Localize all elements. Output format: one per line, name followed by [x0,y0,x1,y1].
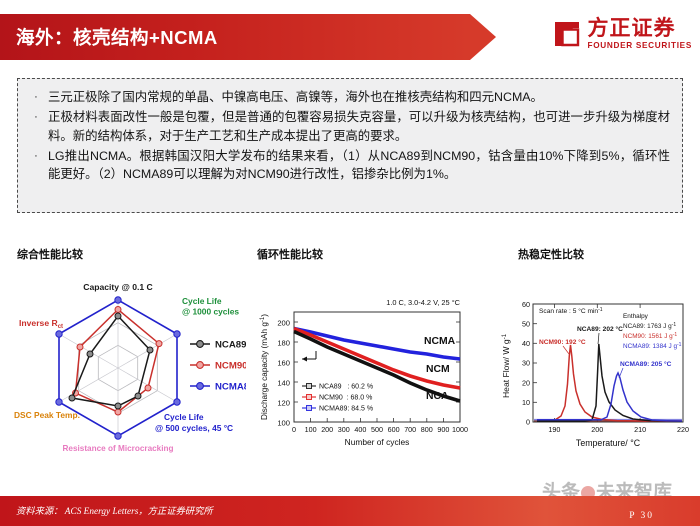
svg-text:200: 200 [277,319,290,328]
bullet-text: 三元正极除了国内常规的单晶、中镍高电压、高镍等，海外也在推核壳结构和四元NCMA… [48,88,670,107]
dsc-enthalpy-title: Enthalpy [623,313,649,320]
svg-text:100: 100 [277,419,290,428]
section-heading-radar: 综合性能比较 [17,246,83,262]
svg-text:100: 100 [305,425,317,434]
dsc-thermal-chart: 0 10 20 30 40 50 60 [497,274,693,456]
list-item: · LG推出NCMA。根据韩国汉阳大学发布的结果来看，（1）从NCA89到NCM… [24,147,670,185]
svg-text:400: 400 [354,425,366,434]
page-title: 海外：核壳结构+NCMA [0,24,218,50]
svg-text:140: 140 [277,379,290,388]
svg-text:900: 900 [437,425,449,434]
dsc-chart-annotation: Scan rate : 5 °C min-1 [539,307,603,315]
logo-name-en: FOUNDER SECURITIES [588,42,693,50]
dsc-enthalpy-ncma89: NCMA89: 1384 J g-1 [623,342,682,350]
svg-text:160: 160 [277,359,290,368]
dsc-peak-label-nca89: NCA89: 202 °C [577,325,623,333]
cycle-curve-label-ncma: NCMA [424,336,456,347]
radar-axis-label-microcracking: Resistance of Microcracking [62,444,173,453]
bullet-text: 正极材料表面改性一般是包覆，但是普通的包覆容易损失克容量，可以升级为核壳结构，也… [48,108,670,146]
dsc-enthalpy-nca89: NCA89: 1763 J g-1 [623,322,676,330]
list-item: · 正极材料表面改性一般是包覆，但是普通的包覆容易损失克容量，可以升级为核壳结构… [24,108,670,146]
svg-text:190: 190 [548,425,560,434]
svg-text:50: 50 [522,319,530,328]
bullet-marker: · [24,147,48,185]
radar-axis-label-inverse-rct: Inverse Rct [19,318,63,330]
dsc-peak-label-ncm90: NCM90: 192 °C [539,338,586,346]
logo-name-cn: 方正证券 [588,18,693,39]
radar-legend-nca89: NCA89 [215,340,246,351]
svg-text:40: 40 [522,339,530,348]
radar-legend-ncma89: NCMA89 [215,382,246,393]
svg-text:0: 0 [292,425,296,434]
summary-textbox: · 三元正极除了国内常规的单晶、中镍高电压、高镍等，海外也在推核壳结构和四元NC… [17,78,683,213]
page-number: P 30 [629,511,654,521]
svg-text:NCMA89: 84.5 %: NCMA89: 84.5 % [319,406,373,413]
cycle-curve-label-ncm: NCM [426,364,450,375]
svg-text:220: 220 [677,425,689,434]
cycle-chart-xlabel: Number of cycles [345,437,410,447]
radar-axis-label-cyclelife-500: Cycle Life [164,412,204,422]
company-logo: 方正证券 FOUNDER SECURITIES [552,18,693,50]
source-note: 资料来源： ACS Energy Letters，方正证券研究所 [16,503,213,517]
slide-title-banner: 海外：核壳结构+NCMA [0,14,470,60]
bullet-marker: · [24,88,48,107]
svg-text:20: 20 [522,378,530,387]
svg-text:NCA89 : 60.2 %: NCA89 : 60.2 % [319,384,373,391]
list-item: · 三元正极除了国内常规的单晶、中镍高电压、高镍等，海外也在推核壳结构和四元NC… [24,88,670,107]
cycle-performance-chart: 1.0 C, 3.0-4.2 V, 25 °C 100 120 140 160 … [254,272,490,458]
svg-text:210: 210 [634,425,646,434]
svg-text:30: 30 [522,359,530,368]
section-heading-dsc: 热稳定性比较 [518,246,584,262]
cycle-chart-annotation: 1.0 C, 3.0-4.2 V, 25 °C [386,298,460,307]
section-heading-cycle: 循环性能比较 [257,246,323,262]
dsc-chart-xlabel: Temperature/ °C [576,438,641,448]
svg-text:10: 10 [522,398,530,407]
svg-text:600: 600 [388,425,400,434]
radar-series-nca89 [72,316,150,406]
bullet-text: LG推出NCMA。根据韩国汉阳大学发布的结果来看，（1）从NCA89到NCM90… [48,147,670,185]
radar-axis-label-capacity: Capacity @ 0.1 C [83,282,153,292]
svg-text:1000: 1000 [452,425,468,434]
svg-text:800: 800 [421,425,433,434]
slide-root: 海外：核壳结构+NCMA 方正证券 FOUNDER SECURITIES · 三… [0,0,700,526]
svg-text:200: 200 [321,425,333,434]
svg-text:200: 200 [591,425,603,434]
dsc-enthalpy-ncm90: NCM90: 1561 J g-1 [623,332,677,340]
svg-text:60: 60 [522,300,530,309]
founder-square-logo-icon [552,19,582,49]
svg-text:700: 700 [404,425,416,434]
cycle-chart-ylabel: Discharge capacity (mAh g-1) [260,314,269,420]
radar-legend: NCA89 NCM90 NCMA89 [190,340,246,393]
svg-text:180: 180 [277,339,290,348]
svg-text:NCM90 : 68.0 %: NCM90 : 68.0 % [319,395,372,402]
dsc-peak-label-ncma89: NCMA89: 205 °C [620,360,672,368]
radar-axis-label-dsc: DSC Peak Temp. [14,410,80,420]
svg-text:120: 120 [277,399,290,408]
dsc-chart-ylabel: Heat Flow/ W g-1 [501,333,511,398]
radar-axis-label-cyclelife-1000: Cycle Life [182,296,222,306]
cycle-curve-label-nca: NCA [426,391,449,402]
svg-text:300: 300 [338,425,350,434]
svg-text:@ 500 cycles, 45 °C: @ 500 cycles, 45 °C [155,423,233,433]
bullet-marker: · [24,108,48,146]
radar-legend-ncm90: NCM90 [215,361,246,372]
svg-text:500: 500 [371,425,383,434]
svg-text:0: 0 [526,418,530,427]
svg-text:@ 1000 cycles: @ 1000 cycles [182,307,239,317]
radar-chart: Capacity @ 0.1 C Cycle Life @ 1000 cycle… [14,268,246,458]
